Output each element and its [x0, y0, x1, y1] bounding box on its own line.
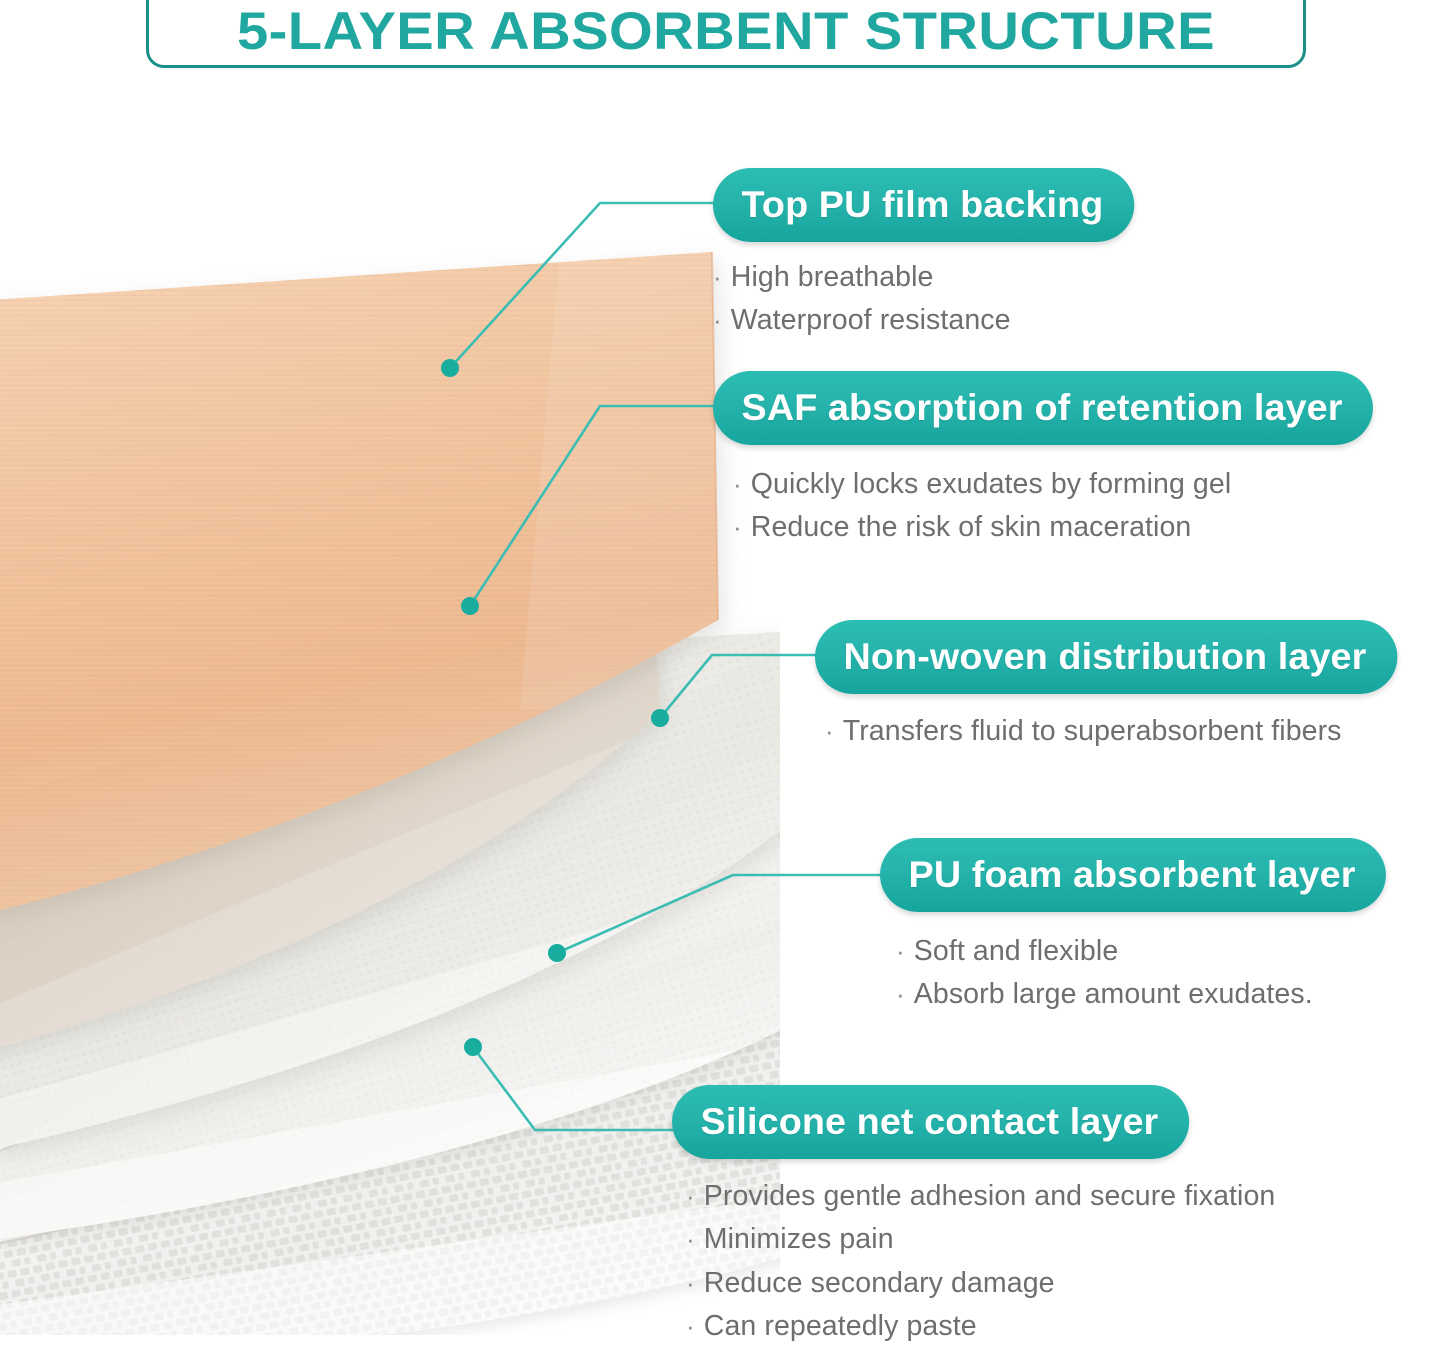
bullet-text: Absorb large amount exudates.	[914, 978, 1313, 1010]
callout-pill-silicone-net-contact-layer[interactable]: Silicone net contact layer	[672, 1085, 1189, 1159]
list-item: ·Quickly locks exudates by forming gel	[733, 463, 1360, 506]
list-item: ·Minimizes pain	[686, 1218, 1275, 1261]
product-photo	[0, 150, 780, 1335]
bullet-marker-icon: ·	[896, 936, 905, 966]
callout-bullets-top-pu-film-backing: ·High breathable ·Waterproof resistance	[713, 256, 1126, 343]
list-item: ·Provides gentle adhesion and secure fix…	[686, 1175, 1275, 1218]
bullet-marker-icon: ·	[713, 262, 722, 292]
bullet-marker-icon: ·	[896, 979, 905, 1009]
bullet-text: Reduce the risk of skin maceration	[751, 511, 1192, 543]
callout-silicone-net-contact-layer: Silicone net contact layer ·Provides gen…	[672, 1085, 1275, 1348]
list-item: ·Can repeatedly paste	[686, 1305, 1275, 1348]
bullet-marker-icon: ·	[825, 716, 834, 746]
bullet-marker-icon: ·	[713, 305, 722, 335]
bullet-text: Provides gentle adhesion and secure fixa…	[704, 1180, 1276, 1212]
bullet-text: Transfers fluid to superabsorbent fibers	[843, 715, 1342, 747]
bullet-text: Soft and flexible	[914, 935, 1119, 967]
bullet-marker-icon: ·	[733, 512, 742, 542]
list-item: ·Absorb large amount exudates.	[896, 973, 1376, 1016]
list-item: ·Transfers fluid to superabsorbent fiber…	[825, 710, 1386, 753]
page-title: 5-LAYER ABSORBENT STRUCTURE	[115, 0, 1336, 64]
bullet-marker-icon: ·	[686, 1224, 695, 1254]
list-item: ·High breathable	[713, 256, 1126, 299]
callout-pill-non-woven-distribution-layer[interactable]: Non-woven distribution layer	[815, 620, 1397, 694]
bullet-text: Minimizes pain	[704, 1223, 894, 1255]
list-item: ·Waterproof resistance	[713, 299, 1126, 342]
list-item: ·Reduce the risk of skin maceration	[733, 506, 1360, 549]
bullet-marker-icon: ·	[733, 469, 742, 499]
callout-pill-saf-absorption-of-retention-layer[interactable]: SAF absorption of retention layer	[713, 371, 1373, 445]
callout-bullets-silicone-net-contact: ·Provides gentle adhesion and secure fix…	[686, 1175, 1275, 1348]
callout-top-pu-film-backing: Top PU film backing ·High breathable ·Wa…	[713, 168, 1126, 343]
bullet-marker-icon: ·	[686, 1268, 695, 1298]
bullet-text: Can repeatedly paste	[704, 1310, 977, 1342]
bullet-text: High breathable	[731, 261, 934, 293]
callout-bullets-pu-foam-absorbent: ·Soft and flexible ·Absorb large amount …	[896, 930, 1376, 1017]
callout-bullets-non-woven-distribution: ·Transfers fluid to superabsorbent fiber…	[825, 710, 1386, 753]
bullet-marker-icon: ·	[686, 1311, 695, 1341]
bullet-text: Quickly locks exudates by forming gel	[751, 468, 1232, 500]
bullet-text: Waterproof resistance	[731, 304, 1011, 336]
callout-non-woven-distribution-layer: Non-woven distribution layer ·Transfers …	[815, 620, 1386, 753]
callout-saf-absorption-of-retention-layer: SAF absorption of retention layer ·Quick…	[713, 371, 1360, 550]
callout-bullets-saf-absorption: ·Quickly locks exudates by forming gel ·…	[733, 463, 1360, 550]
list-item: ·Soft and flexible	[896, 930, 1376, 973]
bullet-text: Reduce secondary damage	[704, 1267, 1055, 1299]
infographic-canvas: 5-LAYER ABSORBENT STRUCTURE	[0, 0, 1445, 1335]
callout-pill-top-pu-film-backing[interactable]: Top PU film backing	[713, 168, 1134, 242]
list-item: ·Reduce secondary damage	[686, 1262, 1275, 1305]
bullet-marker-icon: ·	[686, 1181, 695, 1211]
callout-pu-foam-absorbent-layer: PU foam absorbent layer ·Soft and flexib…	[880, 838, 1376, 1017]
callout-pill-pu-foam-absorbent-layer[interactable]: PU foam absorbent layer	[880, 838, 1386, 912]
